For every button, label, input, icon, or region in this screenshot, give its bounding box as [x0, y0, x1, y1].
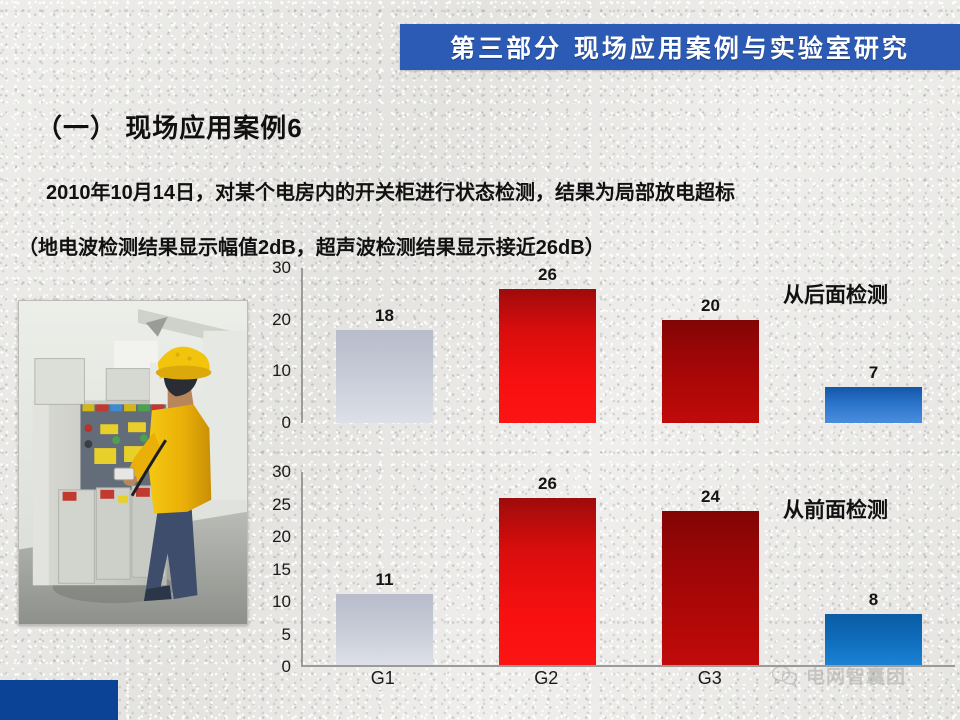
bar-value-label: 20 — [662, 296, 760, 316]
bar-value-label: 8 — [825, 590, 923, 610]
y-tick-label: 20 — [255, 310, 291, 330]
watermark: 电网智囊团 — [772, 662, 906, 689]
y-tick-label: 30 — [255, 258, 291, 278]
y-tick-label: 20 — [255, 527, 291, 547]
watermark-text: 电网智囊团 — [806, 662, 906, 689]
x-tick-label: G2 — [534, 668, 558, 689]
bar-G2: 26 — [499, 289, 597, 423]
y-tick-label: 15 — [255, 560, 291, 580]
y-tick-label: 0 — [255, 413, 291, 433]
field-photo-illustration — [19, 301, 247, 624]
section-banner: 第三部分 现场应用案例与实验室研究 — [400, 24, 960, 70]
bar-G2: 26 — [499, 498, 597, 665]
chart-bottom-legend-label: 从前面检测 — [783, 494, 888, 524]
y-tick-label: 10 — [255, 361, 291, 381]
chart-bottom-y-axis: 051015202530 — [255, 472, 291, 667]
y-tick-label: 5 — [255, 625, 291, 645]
x-tick-label: G1 — [371, 668, 395, 689]
bar-value-label: 26 — [499, 265, 597, 285]
bar-G1: 18 — [336, 330, 434, 423]
body-line-2: （地电波检测结果显示幅值2dB，超声波检测结果显示接近26dB） — [18, 231, 605, 260]
bar-item-4: 7 — [825, 387, 923, 423]
bar-G3: 24 — [662, 511, 760, 665]
y-tick-label: 30 — [255, 462, 291, 482]
section-banner-text: 第三部分 现场应用案例与实验室研究 — [450, 29, 910, 65]
field-photo — [18, 300, 248, 625]
body-line-1: 2010年10月14日，对某个电房内的开关柜进行状态检测，结果为局部放电超标 — [46, 176, 735, 205]
chart-top-legend-label: 从后面检测 — [783, 279, 888, 309]
bar-value-label: 26 — [499, 474, 597, 494]
wechat-icon — [772, 665, 798, 687]
bar-value-label: 24 — [662, 487, 760, 507]
page-title: （一） 现场应用案例6 — [36, 108, 303, 145]
bar-G1: 11 — [336, 594, 434, 665]
x-tick-label: G3 — [698, 668, 722, 689]
chart-top-y-axis: 0102030 — [255, 268, 291, 423]
y-tick-label: 25 — [255, 495, 291, 515]
bar-value-label: 7 — [825, 363, 923, 383]
bar-value-label: 18 — [336, 306, 434, 326]
y-tick-label: 10 — [255, 592, 291, 612]
slide-background: 第三部分 现场应用案例与实验室研究 （一） 现场应用案例6 2010年10月14… — [0, 0, 960, 720]
bar-value-label: 11 — [336, 570, 434, 590]
footer-accent-bar — [0, 680, 118, 720]
bar-item-4: 8 — [825, 614, 923, 665]
bar-G3: 20 — [662, 320, 760, 423]
